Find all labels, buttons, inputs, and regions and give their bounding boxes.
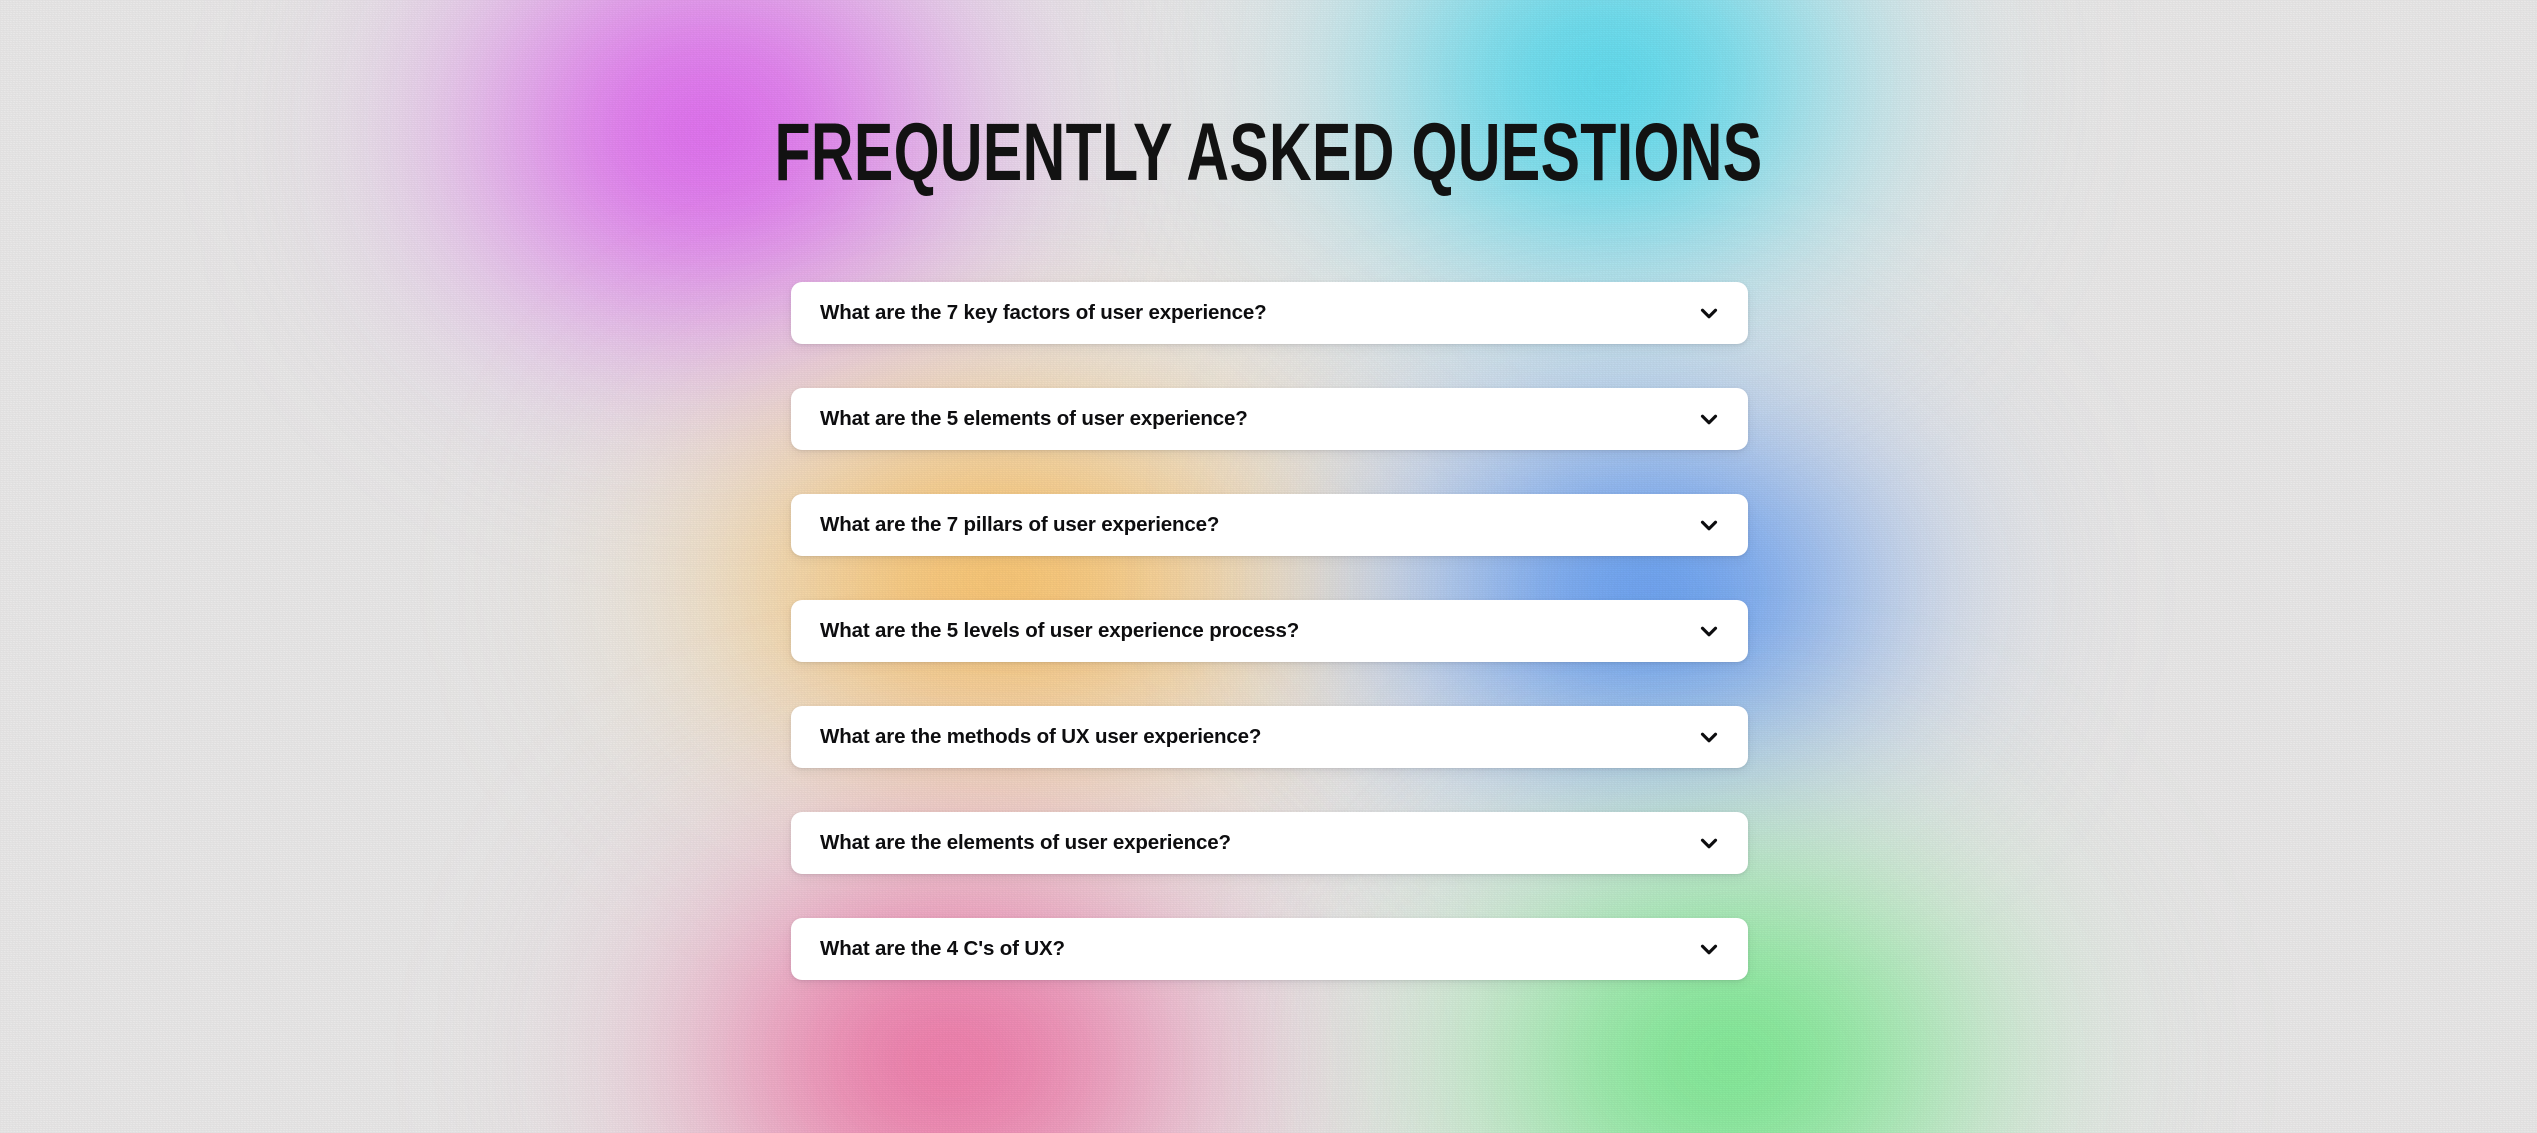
- faq-question-label: What are the 5 elements of user experien…: [820, 407, 1248, 431]
- faq-question-label: What are the 5 levels of user experience…: [820, 619, 1299, 643]
- faq-item[interactable]: What are the 5 levels of user experience…: [791, 600, 1748, 662]
- faq-question-label: What are the 4 C's of UX?: [820, 937, 1065, 961]
- faq-item[interactable]: What are the 4 C's of UX?: [791, 918, 1748, 980]
- faq-question-label: What are the methods of UX user experien…: [820, 725, 1261, 749]
- chevron-down-icon[interactable]: [1696, 300, 1722, 326]
- faq-accordion-list: What are the 7 key factors of user exper…: [791, 282, 1748, 980]
- chevron-down-icon[interactable]: [1696, 830, 1722, 856]
- chevron-down-icon[interactable]: [1696, 618, 1722, 644]
- faq-item[interactable]: What are the 5 elements of user experien…: [791, 388, 1748, 450]
- faq-question-label: What are the 7 key factors of user exper…: [820, 301, 1267, 325]
- page-content: Frequently Asked Questions What are the …: [0, 0, 2537, 1133]
- faq-item[interactable]: What are the elements of user experience…: [791, 812, 1748, 874]
- faq-item[interactable]: What are the 7 key factors of user exper…: [791, 282, 1748, 344]
- page-title: Frequently Asked Questions: [355, 110, 2182, 196]
- chevron-down-icon[interactable]: [1696, 406, 1722, 432]
- chevron-down-icon[interactable]: [1696, 724, 1722, 750]
- chevron-down-icon[interactable]: [1696, 512, 1722, 538]
- faq-question-label: What are the elements of user experience…: [820, 831, 1231, 855]
- chevron-down-icon[interactable]: [1696, 936, 1722, 962]
- faq-question-label: What are the 7 pillars of user experienc…: [820, 513, 1219, 537]
- faq-item[interactable]: What are the methods of UX user experien…: [791, 706, 1748, 768]
- faq-item[interactable]: What are the 7 pillars of user experienc…: [791, 494, 1748, 556]
